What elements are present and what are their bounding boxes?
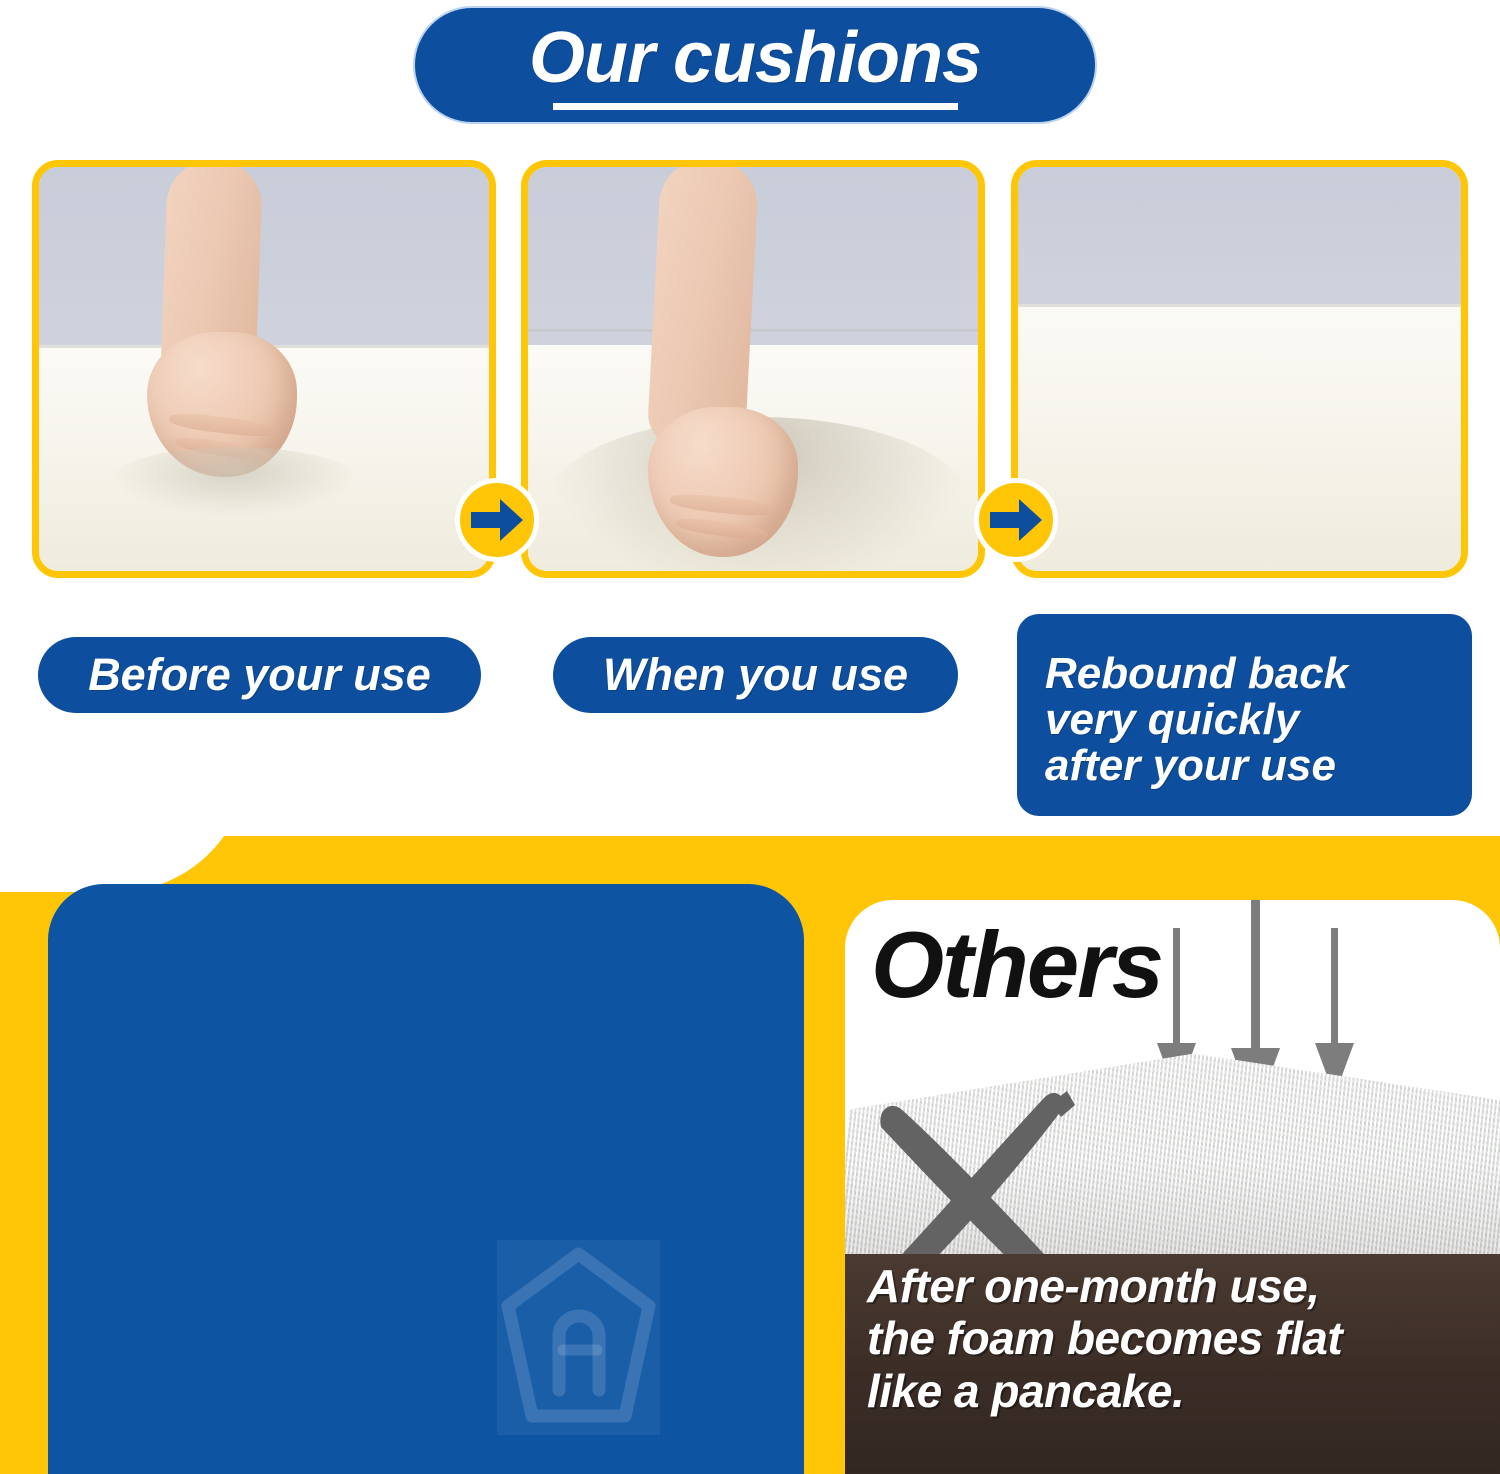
others-caption-line-3: like a pancake. [867,1365,1500,1417]
progress-arrow-icon-1 [455,478,539,562]
others-comparison-panel: Others [845,900,1500,1474]
others-title: Others [871,918,1162,1012]
foam-dimple [109,447,359,517]
photo-backdrop [39,167,489,353]
step-caption-1: Before your use [38,637,481,713]
page-title: Our cushions [529,22,981,94]
step-caption-3-line-2: very quickly [1017,697,1299,743]
foam-top-edge [1018,304,1461,307]
others-caption: After one-month use, the foam becomes fl… [845,1254,1500,1474]
photo-backdrop [1018,167,1461,312]
our-product-benefits-card [48,884,804,1474]
fist-pressing-into-foam-photo [528,167,978,571]
pentagon-home-logo-icon [497,1240,660,1435]
demo-photo-row [0,160,1500,580]
others-caption-line-1: After one-month use, [867,1260,1500,1312]
step-photo-2 [521,160,985,578]
step-caption-3-line-1: Rebound back [1017,651,1348,697]
progress-arrow-icon-2 [974,478,1058,562]
step-caption-3: Rebound back very quickly after your use [1017,614,1472,816]
fist-resting-on-foam-photo [39,167,489,571]
step-caption-3-line-3: after your use [1017,743,1336,789]
foam-slab [1018,304,1461,571]
step-photo-1 [32,160,496,578]
step-caption-2-label: When you use [603,649,908,701]
step-caption-2: When you use [553,637,958,713]
foam-top-edge [528,329,978,332]
step-caption-1-label: Before your use [88,649,431,701]
others-caption-line-2: the foam becomes flat [867,1312,1500,1364]
step-photo-3 [1011,160,1468,578]
foam-rebounded-flat-photo [1018,167,1461,571]
title-underline [553,103,958,110]
product-infographic: Our cushions [0,0,1500,1474]
page-title-banner: Our cushions [415,8,1095,122]
